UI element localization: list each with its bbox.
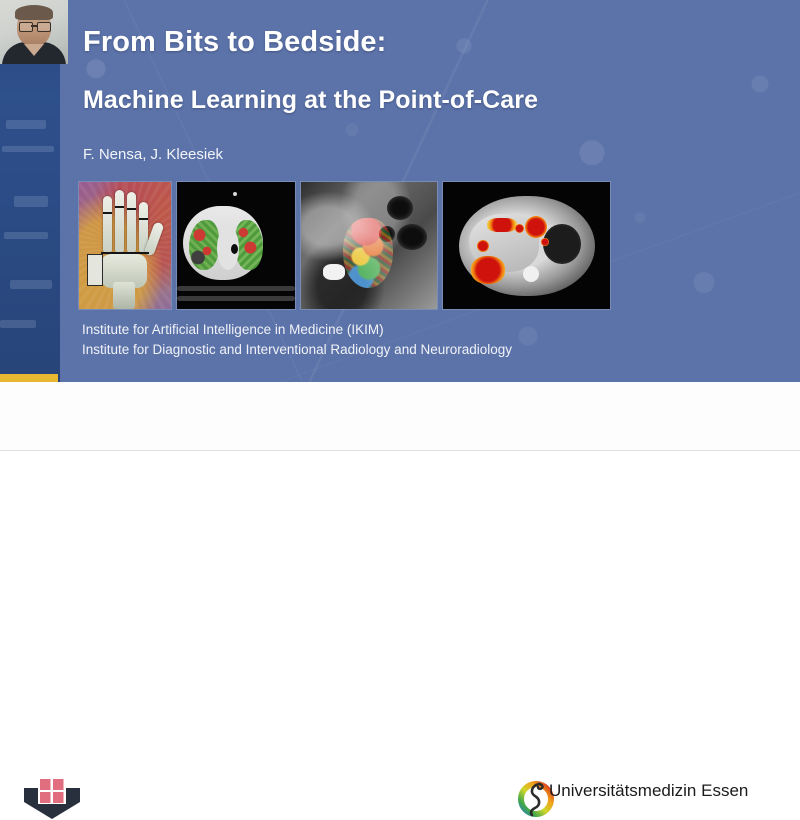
image-abdominal-mri-pet-lesions	[443, 182, 610, 309]
webcam-speaker-hair	[15, 5, 53, 20]
glasses-right-lens-icon	[37, 22, 51, 32]
image-hand-radiograph-bone-age	[79, 182, 171, 309]
ikim-logo	[22, 778, 82, 820]
affiliation-line-1: Institute for Artificial Intelligence in…	[82, 322, 384, 337]
medical-image-strip	[79, 182, 610, 309]
glasses-left-lens-icon	[19, 22, 33, 32]
glasses-bridge-icon	[31, 25, 37, 27]
presentation-screenshot: From Bits to Bedside: Machine Learning a…	[0, 0, 800, 450]
affiliation-line-2: Institute for Diagnostic and Interventio…	[82, 342, 512, 357]
image-chest-ct-lung-segmentation	[177, 182, 295, 309]
gold-accent-bar	[0, 374, 58, 382]
slide-title-line-2: Machine Learning at the Point-of-Care	[83, 86, 538, 115]
slide-authors: F. Nensa, J. Kleesiek	[83, 146, 223, 163]
universitaetsmedizin-essen-wordmark: Universitätsmedizin Essen	[549, 781, 748, 801]
slide-title-line-1: From Bits to Bedside:	[83, 26, 386, 59]
slide-canvas: From Bits to Bedside: Machine Learning a…	[0, 0, 800, 382]
image-pelvic-mri-heatmap	[301, 182, 437, 309]
speaker-video-thumbnail[interactable]	[0, 0, 68, 64]
footer-bar: Universitätsmedizin Essen	[0, 382, 800, 451]
